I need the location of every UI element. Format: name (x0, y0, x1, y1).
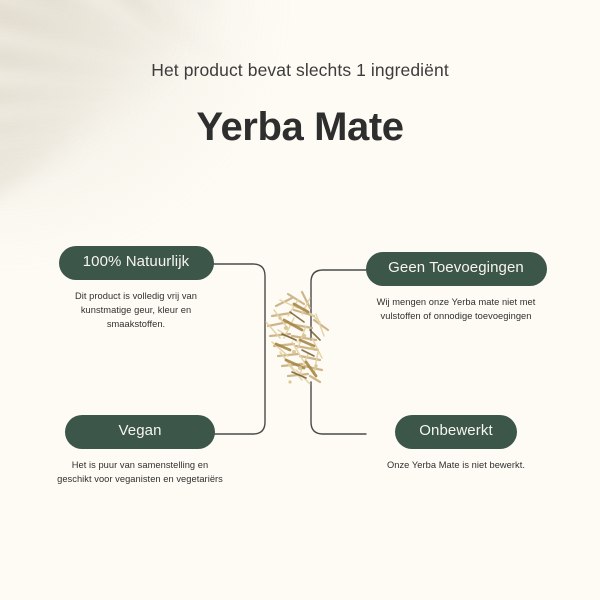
feature-vegan-description: Het is puur van samenstelling en geschik… (54, 458, 226, 487)
feature-vegan: Vegan Het is puur van samenstelling en g… (47, 415, 233, 486)
feature-no-additives-description: Wij mengen onze Yerba mate niet met vuls… (371, 295, 541, 324)
feature-unprocessed: Onbewerkt Onze Yerba Mate is niet bewerk… (358, 415, 554, 472)
feature-no-additives: Geen Toevoegingen Wij mengen onze Yerba … (358, 252, 554, 323)
infographic-poster: Het product bevat slechts 1 ingrediënt Y… (0, 0, 600, 600)
feature-unprocessed-description: Onze Yerba Mate is niet bewerkt. (381, 458, 531, 472)
feature-natural-description: Dit product is volledig vrij van kunstma… (54, 289, 219, 332)
yerba-mate-leaves-image (258, 282, 346, 392)
page-subtitle: Het product bevat slechts 1 ingrediënt (0, 60, 600, 81)
feature-no-additives-badge[interactable]: Geen Toevoegingen (366, 252, 547, 286)
feature-natural-badge[interactable]: 100% Natuurlijk (59, 246, 214, 280)
header: Het product bevat slechts 1 ingrediënt Y… (0, 60, 600, 147)
feature-natural: 100% Natuurlijk Dit product is volledig … (43, 246, 229, 332)
page-title: Yerba Mate (0, 107, 600, 147)
feature-vegan-badge[interactable]: Vegan (65, 415, 215, 449)
feature-unprocessed-badge[interactable]: Onbewerkt (395, 415, 517, 449)
